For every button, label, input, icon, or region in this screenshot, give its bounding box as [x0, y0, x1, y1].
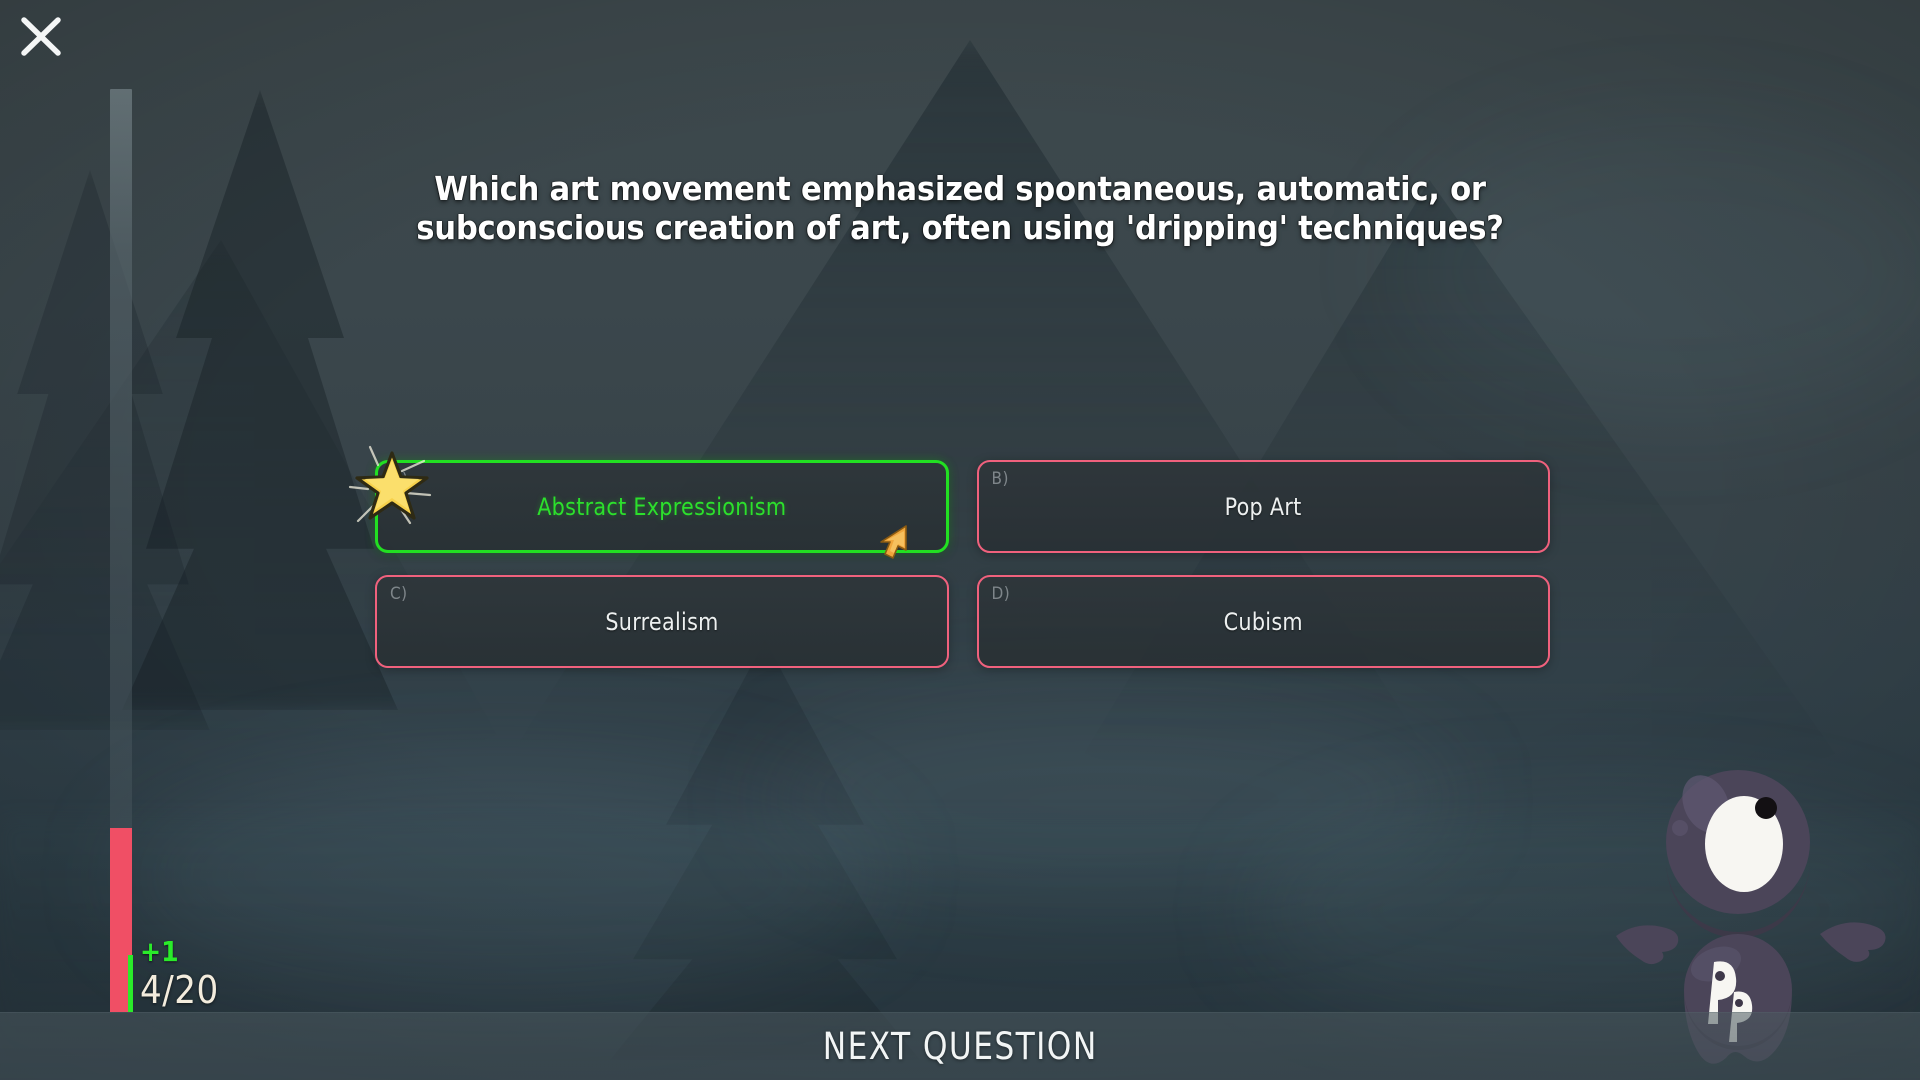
- progress-bar-gain-indicator: [128, 955, 133, 1012]
- answer-option-c[interactable]: C) Surrealism: [375, 575, 949, 668]
- answer-label-a: Abstract Expressionism: [537, 493, 786, 521]
- next-question-button[interactable]: NEXT QUESTION: [0, 1012, 1920, 1080]
- answer-option-b[interactable]: B) Pop Art: [977, 460, 1551, 553]
- answer-options-grid: A) Abstract Expressionism B) Pop Art C) …: [375, 460, 1550, 668]
- answer-option-d[interactable]: D) Cubism: [977, 575, 1551, 668]
- close-icon: [12, 8, 72, 64]
- score-value: 4/20: [140, 971, 219, 1009]
- next-question-label: NEXT QUESTION: [823, 1025, 1098, 1068]
- answer-letter-b: B): [992, 469, 1009, 489]
- score-block: +1 4/20: [140, 938, 219, 1009]
- answer-option-a[interactable]: A) Abstract Expressionism: [375, 460, 949, 553]
- question-container: Which art movement emphasized spontaneou…: [0, 170, 1920, 247]
- answer-letter-a: A): [391, 470, 408, 490]
- answer-label-c: Surrealism: [605, 608, 718, 636]
- answer-label-d: Cubism: [1224, 608, 1303, 636]
- close-button[interactable]: [12, 8, 72, 64]
- answer-label-b: Pop Art: [1225, 493, 1302, 521]
- score-delta: +1: [140, 938, 219, 966]
- answer-letter-c: C): [390, 584, 408, 604]
- answer-letter-d: D): [992, 584, 1011, 604]
- question-text: Which art movement emphasized spontaneou…: [356, 170, 1565, 247]
